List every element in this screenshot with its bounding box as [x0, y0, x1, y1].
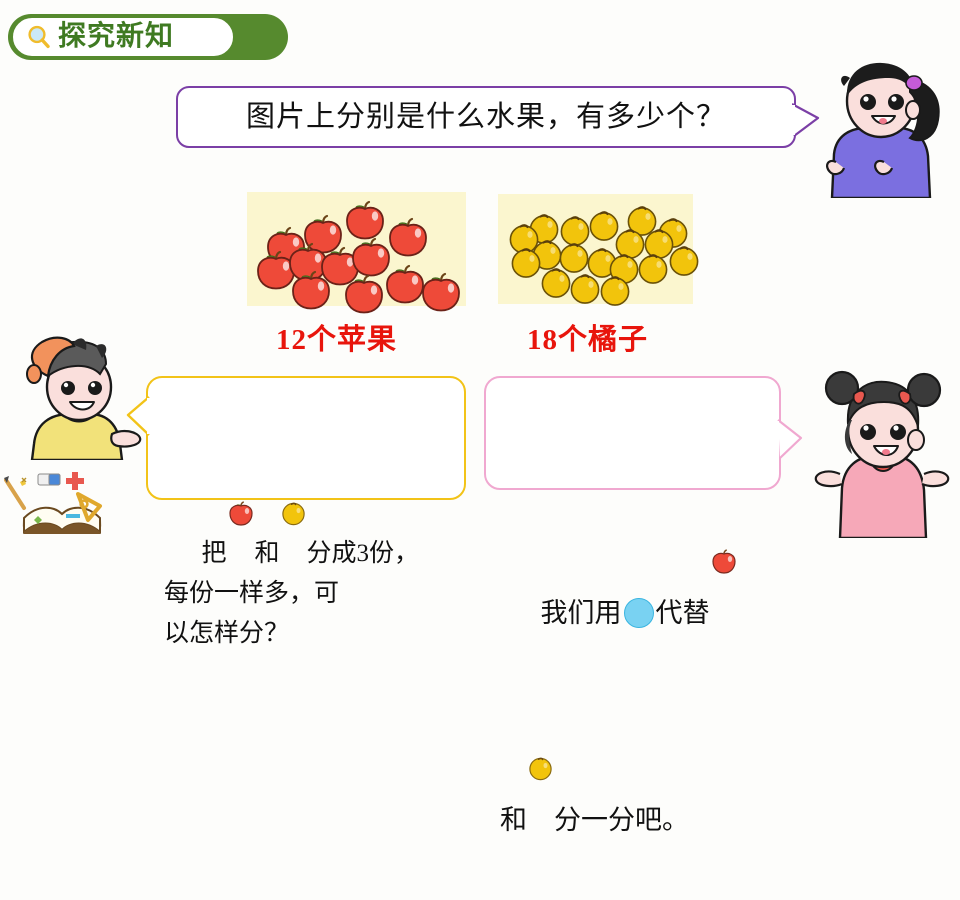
girl-buns-character [806, 358, 956, 538]
apple-count-label: 12个苹果 [276, 316, 397, 358]
orange-image-panel [498, 194, 693, 304]
orange-item [540, 266, 572, 298]
speech-bubble-girl-text: 我们用代替 和 分一分吧。 [486, 378, 779, 900]
apple-item [420, 272, 462, 312]
apple-item [343, 274, 385, 314]
bubble-right-line2-a: 和 [500, 805, 527, 835]
section-badge: 探究新知 [8, 14, 288, 60]
badge-content: 探究新知 [12, 17, 234, 57]
apple-icon [711, 433, 737, 458]
boy-cap-character [12, 332, 157, 460]
speech-bubble-girl: 我们用代替 和 分一分吧。 [484, 376, 781, 490]
orange-item [599, 274, 631, 306]
open-book-stationery-decoration [2, 458, 124, 538]
girl-ponytail-character [806, 58, 956, 198]
bubble-left-line1-c: 分成3份， [307, 540, 420, 567]
bubble-left-line1-b: 和 [255, 540, 280, 567]
apple-image-panel [247, 192, 466, 306]
orange-icon [528, 640, 553, 665]
apple-icon [228, 419, 254, 444]
search-icon [26, 24, 52, 50]
bubble-left-line2: 每份一样多，可 [164, 580, 339, 607]
orange-item [668, 244, 700, 276]
bubble-left-line1-a: 把 [202, 540, 227, 567]
orange-item [510, 246, 542, 278]
speech-bubble-question-text: 图片上分别是什么水果，有多少个？ [178, 88, 794, 146]
apple-item [387, 217, 429, 257]
apple-item [290, 270, 332, 310]
bubble-right-line1-b: 代替 [656, 598, 710, 628]
blue-circle-icon [624, 598, 654, 628]
orange-item [569, 272, 601, 304]
orange-count-label: 18个橘子 [527, 316, 648, 358]
badge-title: 探究新知 [58, 23, 174, 51]
bubble-right-line1-a: 我们用 [541, 598, 622, 628]
speech-bubble-boy: 把 和 分成3份，每份一样多，可以怎样分？ [146, 376, 466, 500]
apple-item [344, 200, 386, 240]
orange-item [637, 252, 669, 284]
bubble-tail-icon [777, 418, 803, 460]
bubble-right-line2-b: 分一分吧。 [554, 805, 689, 835]
slide-canvas: 探究新知 图片上分别是什么水果，有多少个？ 12个苹果 18个橘子 把 [0, 0, 960, 540]
orange-icon [281, 419, 306, 444]
speech-bubble-boy-text: 把 和 分成3份，每份一样多，可以怎样分？ [148, 378, 464, 694]
bubble-left-line3: 以怎样分？ [164, 620, 289, 647]
speech-bubble-question: 图片上分别是什么水果，有多少个？ [176, 86, 796, 148]
